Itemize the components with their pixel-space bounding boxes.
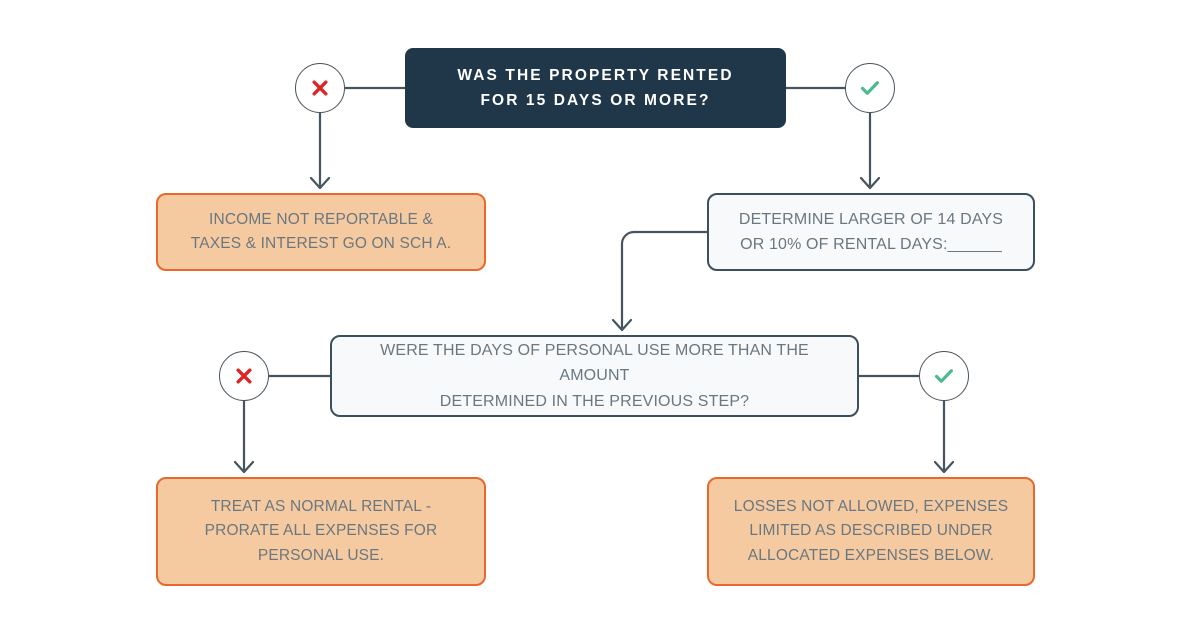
- check-mark-icon: [931, 363, 957, 389]
- check-mark-icon: [857, 75, 883, 101]
- branch-marker-q1-no[interactable]: [295, 63, 345, 113]
- flowchart-canvas: WAS THE PROPERTY RENTED FOR 15 DAYS OR M…: [0, 0, 1190, 632]
- arrowhead-q1-no: [311, 178, 329, 188]
- branch-marker-q2-yes[interactable]: [919, 351, 969, 401]
- arrowhead-q2-yes: [935, 462, 953, 472]
- branch-marker-q1-yes[interactable]: [845, 63, 895, 113]
- decision-box-question-1: WAS THE PROPERTY RENTED FOR 15 DAYS OR M…: [405, 48, 786, 128]
- arrowhead-q1-yes: [861, 178, 879, 188]
- outcome-box-income-not-reportable: INCOME NOT REPORTABLE & TAXES & INTEREST…: [156, 193, 486, 271]
- outcome-box-losses-not-allowed: LOSSES NOT ALLOWED, EXPENSES LIMITED AS …: [707, 477, 1035, 586]
- decision-box-question-2: WERE THE DAYS OF PERSONAL USE MORE THAN …: [330, 335, 859, 417]
- connector-determine-to-q2: [622, 232, 707, 328]
- outcome-box-treat-as-normal-rental: TREAT AS NORMAL RENTAL - PRORATE ALL EXP…: [156, 477, 486, 586]
- x-mark-icon: [308, 76, 332, 100]
- process-box-determine-larger-label: DETERMINE LARGER OF 14 DAYS OR 10% OF RE…: [725, 207, 1017, 258]
- branch-marker-q2-no[interactable]: [219, 351, 269, 401]
- process-box-determine-larger: DETERMINE LARGER OF 14 DAYS OR 10% OF RE…: [707, 193, 1035, 271]
- outcome-box-losses-not-allowed-label: LOSSES NOT ALLOWED, EXPENSES LIMITED AS …: [720, 495, 1022, 568]
- outcome-box-treat-as-normal-rental-label: TREAT AS NORMAL RENTAL - PRORATE ALL EXP…: [191, 495, 452, 568]
- arrowhead-q2-no: [235, 462, 253, 472]
- decision-box-question-2-label: WERE THE DAYS OF PERSONAL USE MORE THAN …: [332, 338, 857, 414]
- x-mark-icon: [232, 364, 256, 388]
- outcome-box-income-not-reportable-label: INCOME NOT REPORTABLE & TAXES & INTEREST…: [177, 208, 465, 257]
- arrowhead-determine-to-q2: [613, 320, 631, 330]
- decision-box-question-1-label: WAS THE PROPERTY RENTED FOR 15 DAYS OR M…: [443, 63, 747, 113]
